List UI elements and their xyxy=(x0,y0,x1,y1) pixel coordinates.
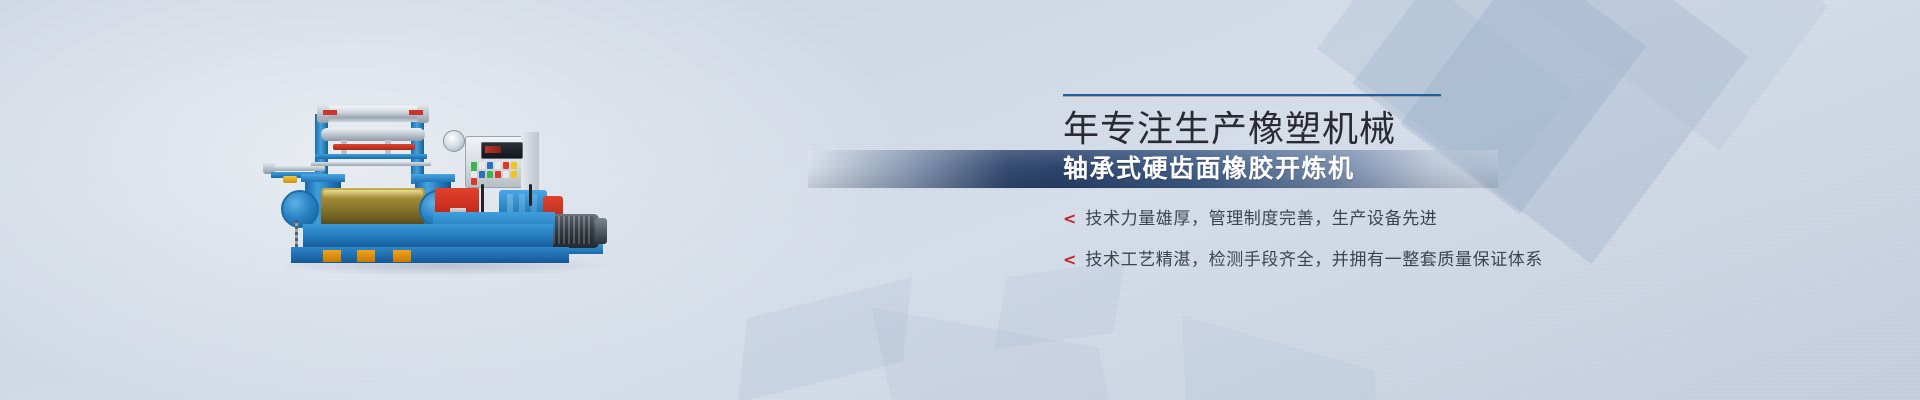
machine-crossbar-blue xyxy=(315,154,427,159)
machine-main-roller-highlight xyxy=(323,190,423,198)
banner-text-block: 年专注生产橡塑机械 轴承式硬齿面橡胶开炼机 < 技术力量雄厚，管理制度完善，生产… xyxy=(1063,94,1763,286)
product-banner: 年专注生产橡塑机械 轴承式硬齿面橡胶开炼机 < 技术力量雄厚，管理制度完善，生产… xyxy=(0,0,1920,400)
watermark-shape-8 xyxy=(1182,315,1377,400)
machine-frame-right-top xyxy=(411,174,455,182)
machine-crossbar-steel xyxy=(311,162,431,166)
chevron-left-icon: < xyxy=(1063,252,1076,268)
list-item: < 技术工艺精湛，检测手段齐全，并拥有一整套质量保证体系 xyxy=(1063,245,1763,270)
machine-red-crossbar xyxy=(333,144,415,150)
machine-control-panel-edge xyxy=(521,132,539,190)
list-item: < 技术力量雄厚，管理制度完善，生产设备先进 xyxy=(1063,204,1763,229)
headline-divider-tan xyxy=(1063,96,1441,97)
feature-text: 技术工艺精湛，检测手段齐全，并拥有一整套质量保证体系 xyxy=(1085,245,1543,270)
headline-divider xyxy=(1063,94,1463,98)
machine-panel-button-row-1 xyxy=(471,162,523,169)
banner-headline: 年专注生产橡塑机械 xyxy=(1063,108,1763,152)
machine-frame-left-top xyxy=(301,174,345,182)
watermark-shape-5 xyxy=(738,277,912,400)
banner-ribbon: 轴承式硬齿面橡胶开炼机 xyxy=(808,150,1498,188)
machine-middle-roller xyxy=(321,128,425,141)
machine-side-rail xyxy=(267,166,325,171)
machine-roller-tip-left xyxy=(323,110,337,115)
machine-handwheel-icon xyxy=(443,130,465,152)
chevron-left-icon: < xyxy=(1063,211,1076,227)
machine-panel-digits xyxy=(485,146,501,153)
product-photo xyxy=(285,92,615,272)
banner-ribbon-title: 轴承式硬齿面橡胶开炼机 xyxy=(1063,150,1355,188)
machine-foot-3 xyxy=(393,250,411,262)
machine-motor-cap xyxy=(595,218,607,244)
feature-text: 技术力量雄厚，管理制度完善，生产设备先进 xyxy=(1085,204,1437,229)
banner-feature-list: < 技术力量雄厚，管理制度完善，生产设备先进 < 技术工艺精湛，检测手段齐全，并… xyxy=(1063,204,1763,270)
watermark-shape-6 xyxy=(872,308,1119,400)
machine-bearing-left xyxy=(281,190,319,228)
machine-roller-tip-right xyxy=(409,110,423,115)
machine-panel-button-row-2 xyxy=(471,171,523,178)
machine-yellow-cap xyxy=(283,176,297,183)
machine-foot-2 xyxy=(357,250,375,262)
machine-foot-1 xyxy=(323,250,341,262)
machine-cable-2 xyxy=(529,184,532,206)
